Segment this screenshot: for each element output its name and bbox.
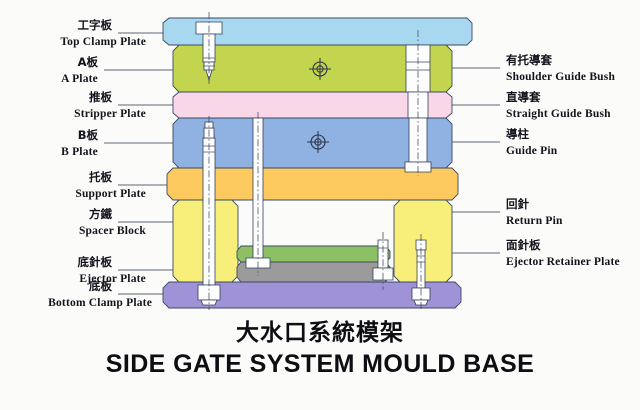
label-guide-pin-en: Guide Pin — [506, 145, 558, 157]
label-support-plate-cn: 托板 — [89, 170, 112, 184]
label-support-plate-en: Support Plate — [75, 188, 146, 200]
label-straight-guide-bush-en: Straight Guide Bush — [506, 108, 611, 120]
label-stripper-plate-cn: 推板 — [89, 90, 112, 104]
label-b-plate-cn: B板 — [78, 128, 99, 142]
label-return-pin-cn: 回針 — [506, 197, 529, 211]
label-ejector-plate-cn: 底針板 — [78, 255, 113, 269]
label-spacer-block-cn: 方鐵 — [89, 207, 112, 221]
label-straight-guide-bush-cn: 直導套 — [506, 90, 541, 104]
label-b-plate-en: B Plate — [61, 146, 98, 158]
label-shoulder-guide-bush-en: Shoulder Guide Bush — [506, 71, 615, 83]
label-top-clamp-plate-en: Top Clamp Plate — [60, 36, 146, 48]
label-a-plate-en: A Plate — [61, 73, 98, 85]
label-stripper-plate-en: Stripper Plate — [74, 108, 146, 120]
label-ejector-retainer-plate-en: Ejector Retainer Plate — [506, 256, 620, 268]
label-shoulder-guide-bush-cn: 有托導套 — [506, 53, 552, 67]
label-bottom-clamp-plate-en: Bottom Clamp Plate — [48, 297, 152, 309]
label-bottom-clamp-plate-cn: 底板 — [89, 279, 112, 293]
title-english: SIDE GATE SYSTEM MOULD BASE — [106, 350, 534, 378]
label-a-plate-cn: A板 — [78, 55, 99, 69]
mould-base-diagram: 工字板 Top Clamp Plate A板 A Plate 推板 Stripp… — [0, 0, 640, 410]
label-ejector-retainer-plate-cn: 面針板 — [506, 238, 541, 252]
label-top-clamp-plate-cn: 工字板 — [78, 18, 113, 32]
label-spacer-block-en: Spacer Block — [79, 225, 146, 237]
title-chinese: 大水口系統模架 — [236, 319, 404, 346]
label-return-pin-en: Return Pin — [506, 215, 563, 227]
guide-pin-assembly — [405, 30, 431, 176]
label-guide-pin-cn: 導柱 — [506, 127, 529, 141]
